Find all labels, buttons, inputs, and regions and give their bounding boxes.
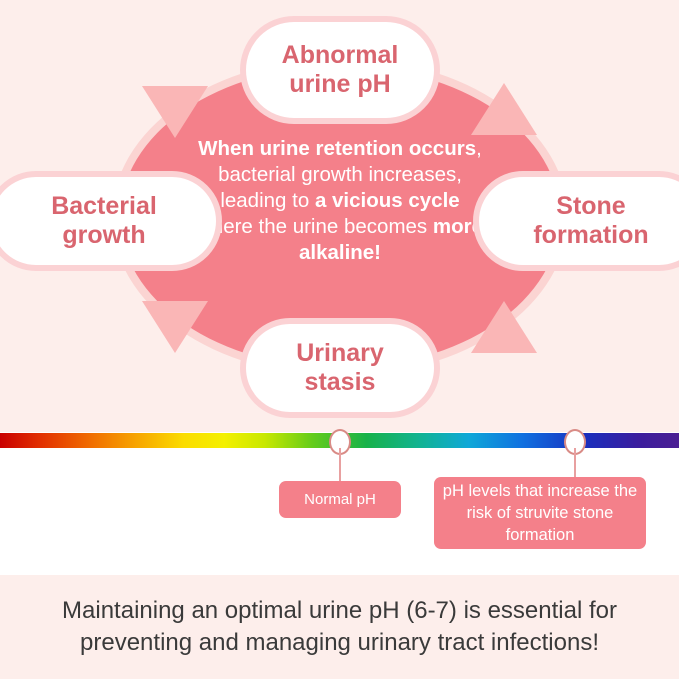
arrow-down-icon-bottom-left xyxy=(142,301,208,353)
callout-normal-ph-label: Normal pH xyxy=(304,491,376,508)
arrow-down-icon-top-left xyxy=(142,86,208,138)
callout-struvite-risk: pH levels that increase the risk of stru… xyxy=(434,477,646,549)
cycle-diagram-section: When urine retention occurs, bacterial g… xyxy=(0,0,679,432)
cycle-node-label-right: Stoneformation xyxy=(533,192,648,251)
cycle-node-label-bottom: Urinarystasis xyxy=(296,339,384,398)
arrow-up-icon-bottom-right xyxy=(471,301,537,353)
bottom-caption-band: Maintaining an optimal urine pH (6-7) is… xyxy=(0,575,679,679)
cycle-node-urinary-stasis: Urinarystasis xyxy=(240,318,440,418)
callout-struvite-risk-label: pH levels that increase the risk of stru… xyxy=(434,480,646,547)
cycle-node-abnormal-urine-ph: Abnormalurine pH xyxy=(240,16,440,124)
caption-text: Maintaining an optimal urine pH (6-7) is… xyxy=(20,595,660,658)
arrow-up-icon-top-right xyxy=(471,83,537,135)
ph-gradient-bar xyxy=(0,433,679,448)
cycle-node-bacterial-growth: Bacterialgrowth xyxy=(0,171,222,271)
cycle-node-stone-formation: Stoneformation xyxy=(473,171,679,271)
cycle-center-paragraph: When urine retention occurs, bacterial g… xyxy=(190,136,490,266)
cycle-node-label-left: Bacterialgrowth xyxy=(51,192,157,251)
callout-normal-ph: Normal pH xyxy=(279,481,401,518)
cycle-node-label-top: Abnormalurine pH xyxy=(282,41,399,100)
